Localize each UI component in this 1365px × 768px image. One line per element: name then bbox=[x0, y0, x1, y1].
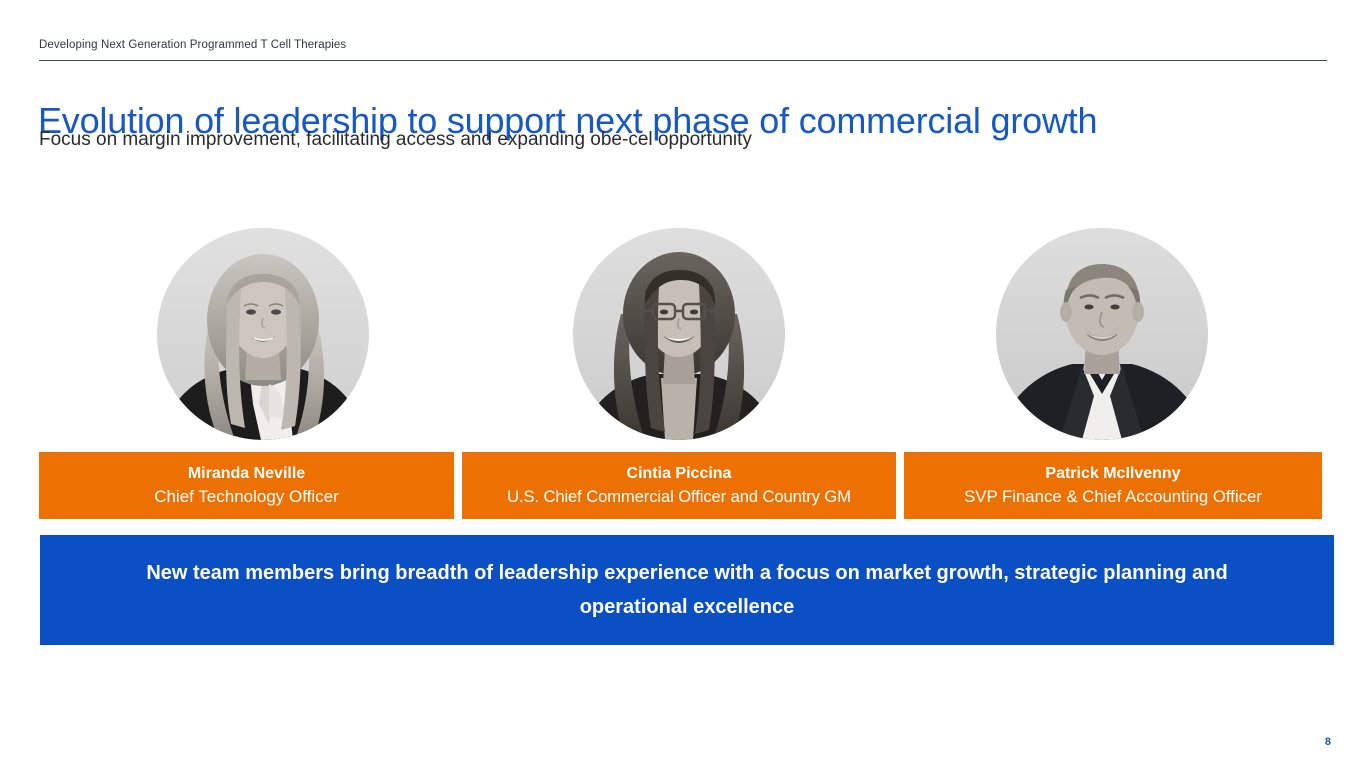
header-divider bbox=[39, 60, 1327, 61]
person-role: SVP Finance & Chief Accounting Officer bbox=[964, 485, 1262, 508]
callout-banner: New team members bring breadth of leader… bbox=[40, 535, 1334, 645]
avatar-person-2 bbox=[573, 228, 785, 440]
avatar-person-1 bbox=[157, 228, 369, 440]
person-name: Patrick McIlvenny bbox=[1045, 463, 1180, 485]
callout-text: New team members bring breadth of leader… bbox=[132, 556, 1242, 624]
page-subtitle: Focus on margin improvement, facilitatin… bbox=[39, 127, 752, 152]
person-role: Chief Technology Officer bbox=[154, 485, 339, 508]
portrait-blonde-woman-grayscale bbox=[157, 228, 369, 440]
person-name: Miranda Neville bbox=[188, 463, 305, 485]
name-plate-person-2: Cintia Piccina U.S. Chief Commercial Off… bbox=[462, 452, 896, 519]
name-plate-person-3: Patrick McIlvenny SVP Finance & Chief Ac… bbox=[904, 452, 1322, 519]
page-number: 8 bbox=[1325, 736, 1331, 748]
slide-eyebrow: Developing Next Generation Programmed T … bbox=[39, 38, 346, 52]
portrait-woman-glasses-grayscale bbox=[573, 228, 785, 440]
slide-canvas: Developing Next Generation Programmed T … bbox=[0, 0, 1365, 768]
person-name: Cintia Piccina bbox=[627, 463, 732, 485]
portrait-man-suit-grayscale bbox=[996, 228, 1208, 440]
name-plate-person-1: Miranda Neville Chief Technology Officer bbox=[39, 452, 454, 519]
person-role: U.S. Chief Commercial Officer and Countr… bbox=[507, 485, 851, 508]
avatar-person-3 bbox=[996, 228, 1208, 440]
